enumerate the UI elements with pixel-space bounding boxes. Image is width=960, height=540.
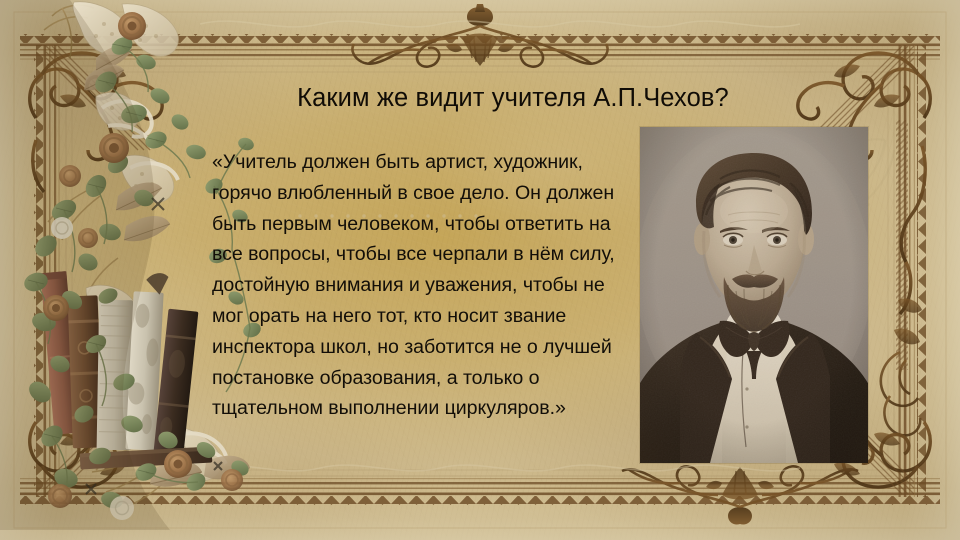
quote-text: «Учитель должен быть артист, художник, г…	[212, 147, 636, 424]
slide-canvas: Каким же видит учителя А.П.Чехов? «Учите…	[0, 0, 960, 540]
page-title: Каким же видит учителя А.П.Чехов?	[0, 84, 960, 113]
chekhov-portrait-photo	[640, 127, 868, 463]
